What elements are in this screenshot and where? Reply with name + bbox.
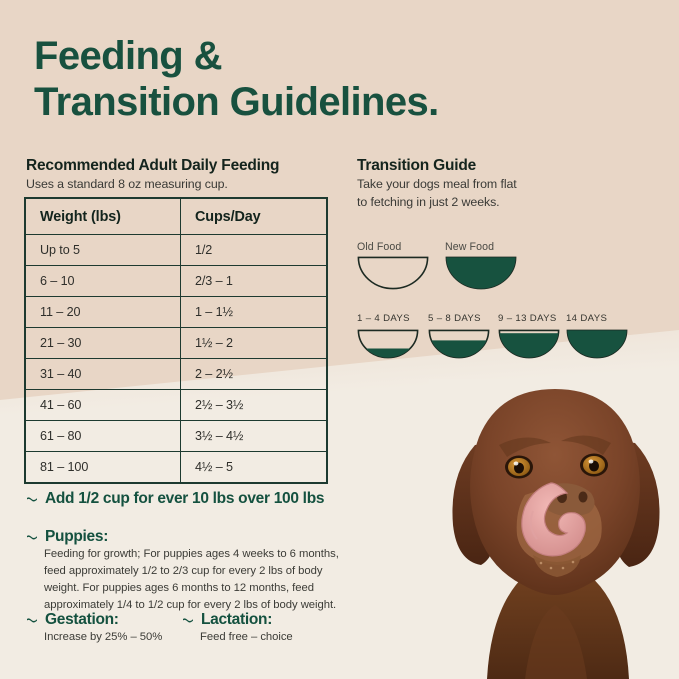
feeding-guidelines-poster: Feeding & Transition Guidelines. Recomme… (0, 0, 679, 679)
cell-weight: 6 – 10 (26, 266, 181, 297)
cell-weight: 61 – 80 (26, 421, 181, 452)
feeding-table-head: Weight (lbs) Cups/Day (26, 199, 327, 235)
note-gestation: Gestation: (26, 611, 196, 628)
table-row: 31 – 402 – 2½ (26, 359, 327, 390)
table-header-row: Weight (lbs) Cups/Day (26, 199, 327, 235)
transition-section-heading: Transition Guide (357, 157, 476, 175)
stage-label-2: 5 – 8 DAYS (428, 313, 481, 324)
cell-weight: Up to 5 (26, 235, 181, 266)
note-lactation: Lactation: (182, 611, 352, 628)
note-puppies-text: Feeding for growth; For puppies ages 4 w… (44, 546, 344, 614)
cell-weight: 11 – 20 (26, 297, 181, 328)
table-row: Up to 51/2 (26, 235, 327, 266)
transition-section-subheading: Take your dogs meal from flat to fetchin… (357, 176, 517, 212)
table-row: 11 – 201 – 1½ (26, 297, 327, 328)
table-row: 81 – 1004½ – 5 (26, 452, 327, 483)
table-row: 6 – 102/3 – 1 (26, 266, 327, 297)
dash-bullet-icon (182, 615, 193, 626)
cell-weight: 81 – 100 (26, 452, 181, 483)
cell-cups: 4½ – 5 (181, 452, 327, 483)
note-gestation-text: Increase by 25% – 50% (44, 631, 224, 643)
bowl-icon-new-food (445, 256, 517, 290)
cell-cups: 3½ – 4½ (181, 421, 327, 452)
bowl-icon-stage-2 (428, 329, 490, 359)
legend-label-new-food: New Food (445, 241, 494, 253)
stage-label-4: 14 DAYS (566, 313, 607, 324)
table-row: 61 – 803½ – 4½ (26, 421, 327, 452)
feeding-table: Weight (lbs) Cups/Day Up to 51/26 – 102/… (25, 198, 327, 483)
cell-weight: 41 – 60 (26, 390, 181, 421)
note-gestation-label: Gestation: (45, 611, 119, 628)
dash-bullet-icon (26, 532, 37, 543)
bowl-icon-stage-4 (566, 329, 628, 359)
cell-cups: 1 – 1½ (181, 297, 327, 328)
cell-cups: 2/3 – 1 (181, 266, 327, 297)
feeding-table-wrapper: Weight (lbs) Cups/Day Up to 51/26 – 102/… (24, 197, 328, 484)
column-header-weight: Weight (lbs) (26, 199, 181, 235)
note-lactation-label: Lactation: (201, 611, 272, 628)
cell-cups: 2½ – 3½ (181, 390, 327, 421)
note-puppies-label: Puppies: (45, 528, 108, 545)
feeding-section-heading: Recommended Adult Daily Feeding (26, 157, 279, 175)
cell-cups: 1½ – 2 (181, 328, 327, 359)
column-header-cups: Cups/Day (181, 199, 327, 235)
table-row: 21 – 301½ – 2 (26, 328, 327, 359)
feeding-section-subheading: Uses a standard 8 oz measuring cup. (26, 177, 228, 191)
dog-photo (429, 379, 679, 679)
feeding-table-body: Up to 51/26 – 102/3 – 111 – 201 – 1½21 –… (26, 235, 327, 483)
stage-label-3: 9 – 13 DAYS (498, 313, 557, 324)
cell-weight: 21 – 30 (26, 328, 181, 359)
note-add-cup-label: Add 1/2 cup for ever 10 lbs over 100 lbs (45, 490, 324, 507)
note-puppies: Puppies: (26, 528, 226, 545)
legend-label-old-food: Old Food (357, 241, 401, 253)
cell-weight: 31 – 40 (26, 359, 181, 390)
cell-cups: 2 – 2½ (181, 359, 327, 390)
cell-cups: 1/2 (181, 235, 327, 266)
page-title-line-1: Feeding & (34, 33, 634, 79)
dash-bullet-icon (26, 494, 37, 505)
stage-label-1: 1 – 4 DAYS (357, 313, 410, 324)
poster-content: Feeding & Transition Guidelines. Recomme… (0, 0, 679, 679)
transition-subheading-line-2: to fetching in just 2 weeks. (357, 194, 517, 212)
bowl-icon-stage-1 (357, 329, 419, 359)
page-title-line-2: Transition Guidelines. (34, 79, 634, 125)
dash-bullet-icon (26, 615, 37, 626)
table-row: 41 – 602½ – 3½ (26, 390, 327, 421)
bowl-icon-old-food (357, 256, 429, 290)
bowl-icon-stage-3 (498, 329, 560, 359)
page-title: Feeding & Transition Guidelines. (34, 33, 634, 126)
transition-subheading-line-1: Take your dogs meal from flat (357, 176, 517, 194)
note-lactation-text: Feed free – choice (200, 631, 380, 643)
note-add-cup: Add 1/2 cup for ever 10 lbs over 100 lbs (26, 490, 346, 507)
